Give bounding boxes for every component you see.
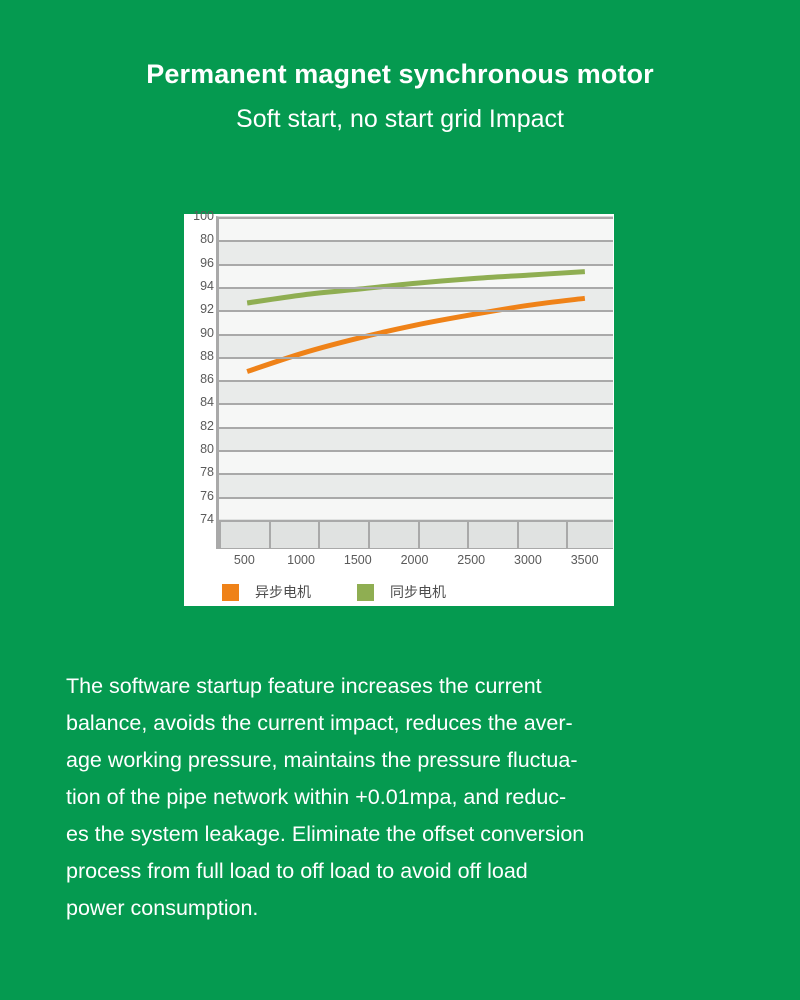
- gridline-horizontal: [219, 357, 613, 359]
- x-axis-tick-label: 500: [234, 554, 255, 567]
- description-line: tion of the pipe network within +0.01mpa…: [66, 779, 756, 816]
- gridline-horizontal: [219, 427, 613, 429]
- gridline-horizontal: [219, 217, 613, 219]
- legend-swatch-icon: [357, 584, 374, 601]
- description-line: es the system leakage. Eliminate the off…: [66, 816, 756, 853]
- header: Permanent magnet synchronous motor Soft …: [0, 0, 800, 134]
- legend-swatch-icon: [222, 584, 239, 601]
- gridline-horizontal: [219, 403, 613, 405]
- description-line: power consumption.: [66, 890, 756, 927]
- x-axis-tick-label: 1000: [287, 554, 315, 567]
- series-lines: [219, 217, 613, 549]
- legend-label: 同步电机: [390, 582, 446, 602]
- x-axis-tick-label: 2500: [457, 554, 485, 567]
- y-axis-tick-label: 80: [184, 443, 214, 456]
- y-axis-tick-label: 94: [184, 280, 214, 293]
- description-line: age working pressure, maintains the pres…: [66, 742, 756, 779]
- y-axis-tick-label: 84: [184, 396, 214, 409]
- gridline-vertical: [517, 520, 519, 549]
- x-axis-tick-label: 1500: [344, 554, 372, 567]
- y-axis-tick-label: 80: [184, 233, 214, 246]
- gridline-vertical: [418, 520, 420, 549]
- description-line: The software startup feature increases t…: [66, 668, 756, 705]
- legend-item[interactable]: 同步电机: [357, 582, 446, 602]
- y-axis-tick-label: 90: [184, 326, 214, 339]
- y-axis-tick-label: 82: [184, 420, 214, 433]
- gridline-vertical: [368, 520, 370, 549]
- plot-area: [216, 216, 613, 549]
- y-axis-tick-label: 88: [184, 350, 214, 363]
- gridline-vertical: [318, 520, 320, 549]
- y-axis-tick-label: 76: [184, 489, 214, 502]
- y-axis-tick-label: 86: [184, 373, 214, 386]
- gridline-horizontal: [219, 334, 613, 336]
- gridline-horizontal: [219, 497, 613, 499]
- gridline-horizontal: [219, 520, 613, 522]
- y-axis-tick-label: 74: [184, 513, 214, 526]
- gridline-horizontal: [219, 264, 613, 266]
- gridline-horizontal: [219, 240, 613, 242]
- y-axis-tick-label: 92: [184, 303, 214, 316]
- x-axis-tick-label: 3500: [571, 554, 599, 567]
- gridline-horizontal: [219, 450, 613, 452]
- page-title: Permanent magnet synchronous motor: [0, 58, 800, 90]
- legend-item[interactable]: 异步电机: [222, 582, 311, 602]
- x-axis-tick-label: 2000: [401, 554, 429, 567]
- gridline-vertical: [566, 520, 568, 549]
- chart-legend: 异步电机同步电机: [216, 580, 613, 604]
- gridline-vertical: [219, 520, 221, 549]
- description-paragraph: The software startup feature increases t…: [66, 668, 756, 927]
- gridline-horizontal: [219, 310, 613, 312]
- y-axis-tick-label: 96: [184, 256, 214, 269]
- description-line: balance, avoids the current impact, redu…: [66, 705, 756, 742]
- legend-label: 异步电机: [255, 582, 311, 602]
- y-axis: 10080969492908886848280787674: [184, 214, 214, 559]
- x-axis: 500100015002000250030003500: [216, 552, 613, 578]
- y-axis-tick-label: 100: [184, 210, 214, 223]
- gridline-vertical: [269, 520, 271, 549]
- chart-card: 10080969492908886848280787674 5001000150…: [184, 214, 614, 606]
- gridline-horizontal: [219, 473, 613, 475]
- page-subtitle: Soft start, no start grid Impact: [0, 104, 800, 134]
- gridline-horizontal: [219, 287, 613, 289]
- gridline-vertical: [467, 520, 469, 549]
- gridline-horizontal: [219, 380, 613, 382]
- description-line: process from full load to off load to av…: [66, 853, 756, 890]
- axis-line-bottom: [219, 548, 613, 549]
- x-axis-tick-label: 3000: [514, 554, 542, 567]
- y-axis-tick-label: 78: [184, 466, 214, 479]
- chart: 10080969492908886848280787674 5001000150…: [184, 214, 614, 606]
